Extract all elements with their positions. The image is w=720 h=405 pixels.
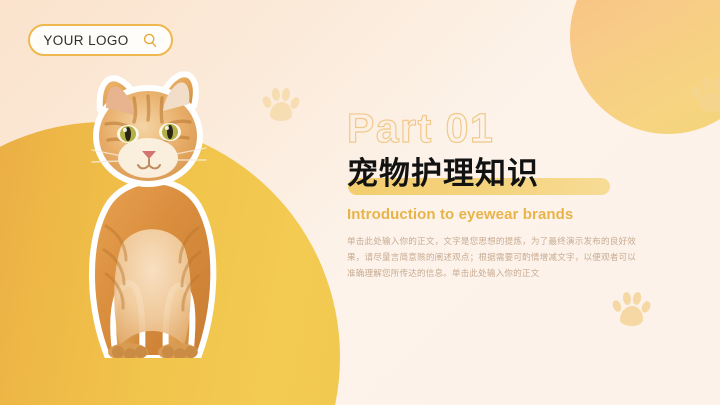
paw-print-icon bbox=[261, 83, 300, 124]
content-block: Part 01 宠物护理知识 Introduction to eyewear b… bbox=[347, 108, 647, 282]
headline-wrapper: 宠物护理知识 bbox=[347, 154, 647, 198]
paw-print-icon bbox=[690, 72, 720, 116]
paw-print-icon bbox=[611, 287, 651, 329]
part-label: Part 01 bbox=[347, 108, 647, 149]
logo-pill[interactable]: YOUR LOGO bbox=[28, 24, 173, 56]
search-icon[interactable] bbox=[143, 33, 158, 48]
body-paragraph: 单击此处输入你的正文，文字是您思想的提炼，为了最终演示发布的良好效果，请尽量言简… bbox=[347, 234, 636, 282]
subtitle: Introduction to eyewear brands bbox=[347, 206, 647, 223]
cat-photo bbox=[48, 58, 256, 358]
logo-text: YOUR LOGO bbox=[43, 33, 128, 48]
slide-canvas: YOUR LOGO Part 01 宠物护理知识 Introduction to… bbox=[0, 0, 720, 405]
page-title: 宠物护理知识 bbox=[347, 154, 539, 194]
